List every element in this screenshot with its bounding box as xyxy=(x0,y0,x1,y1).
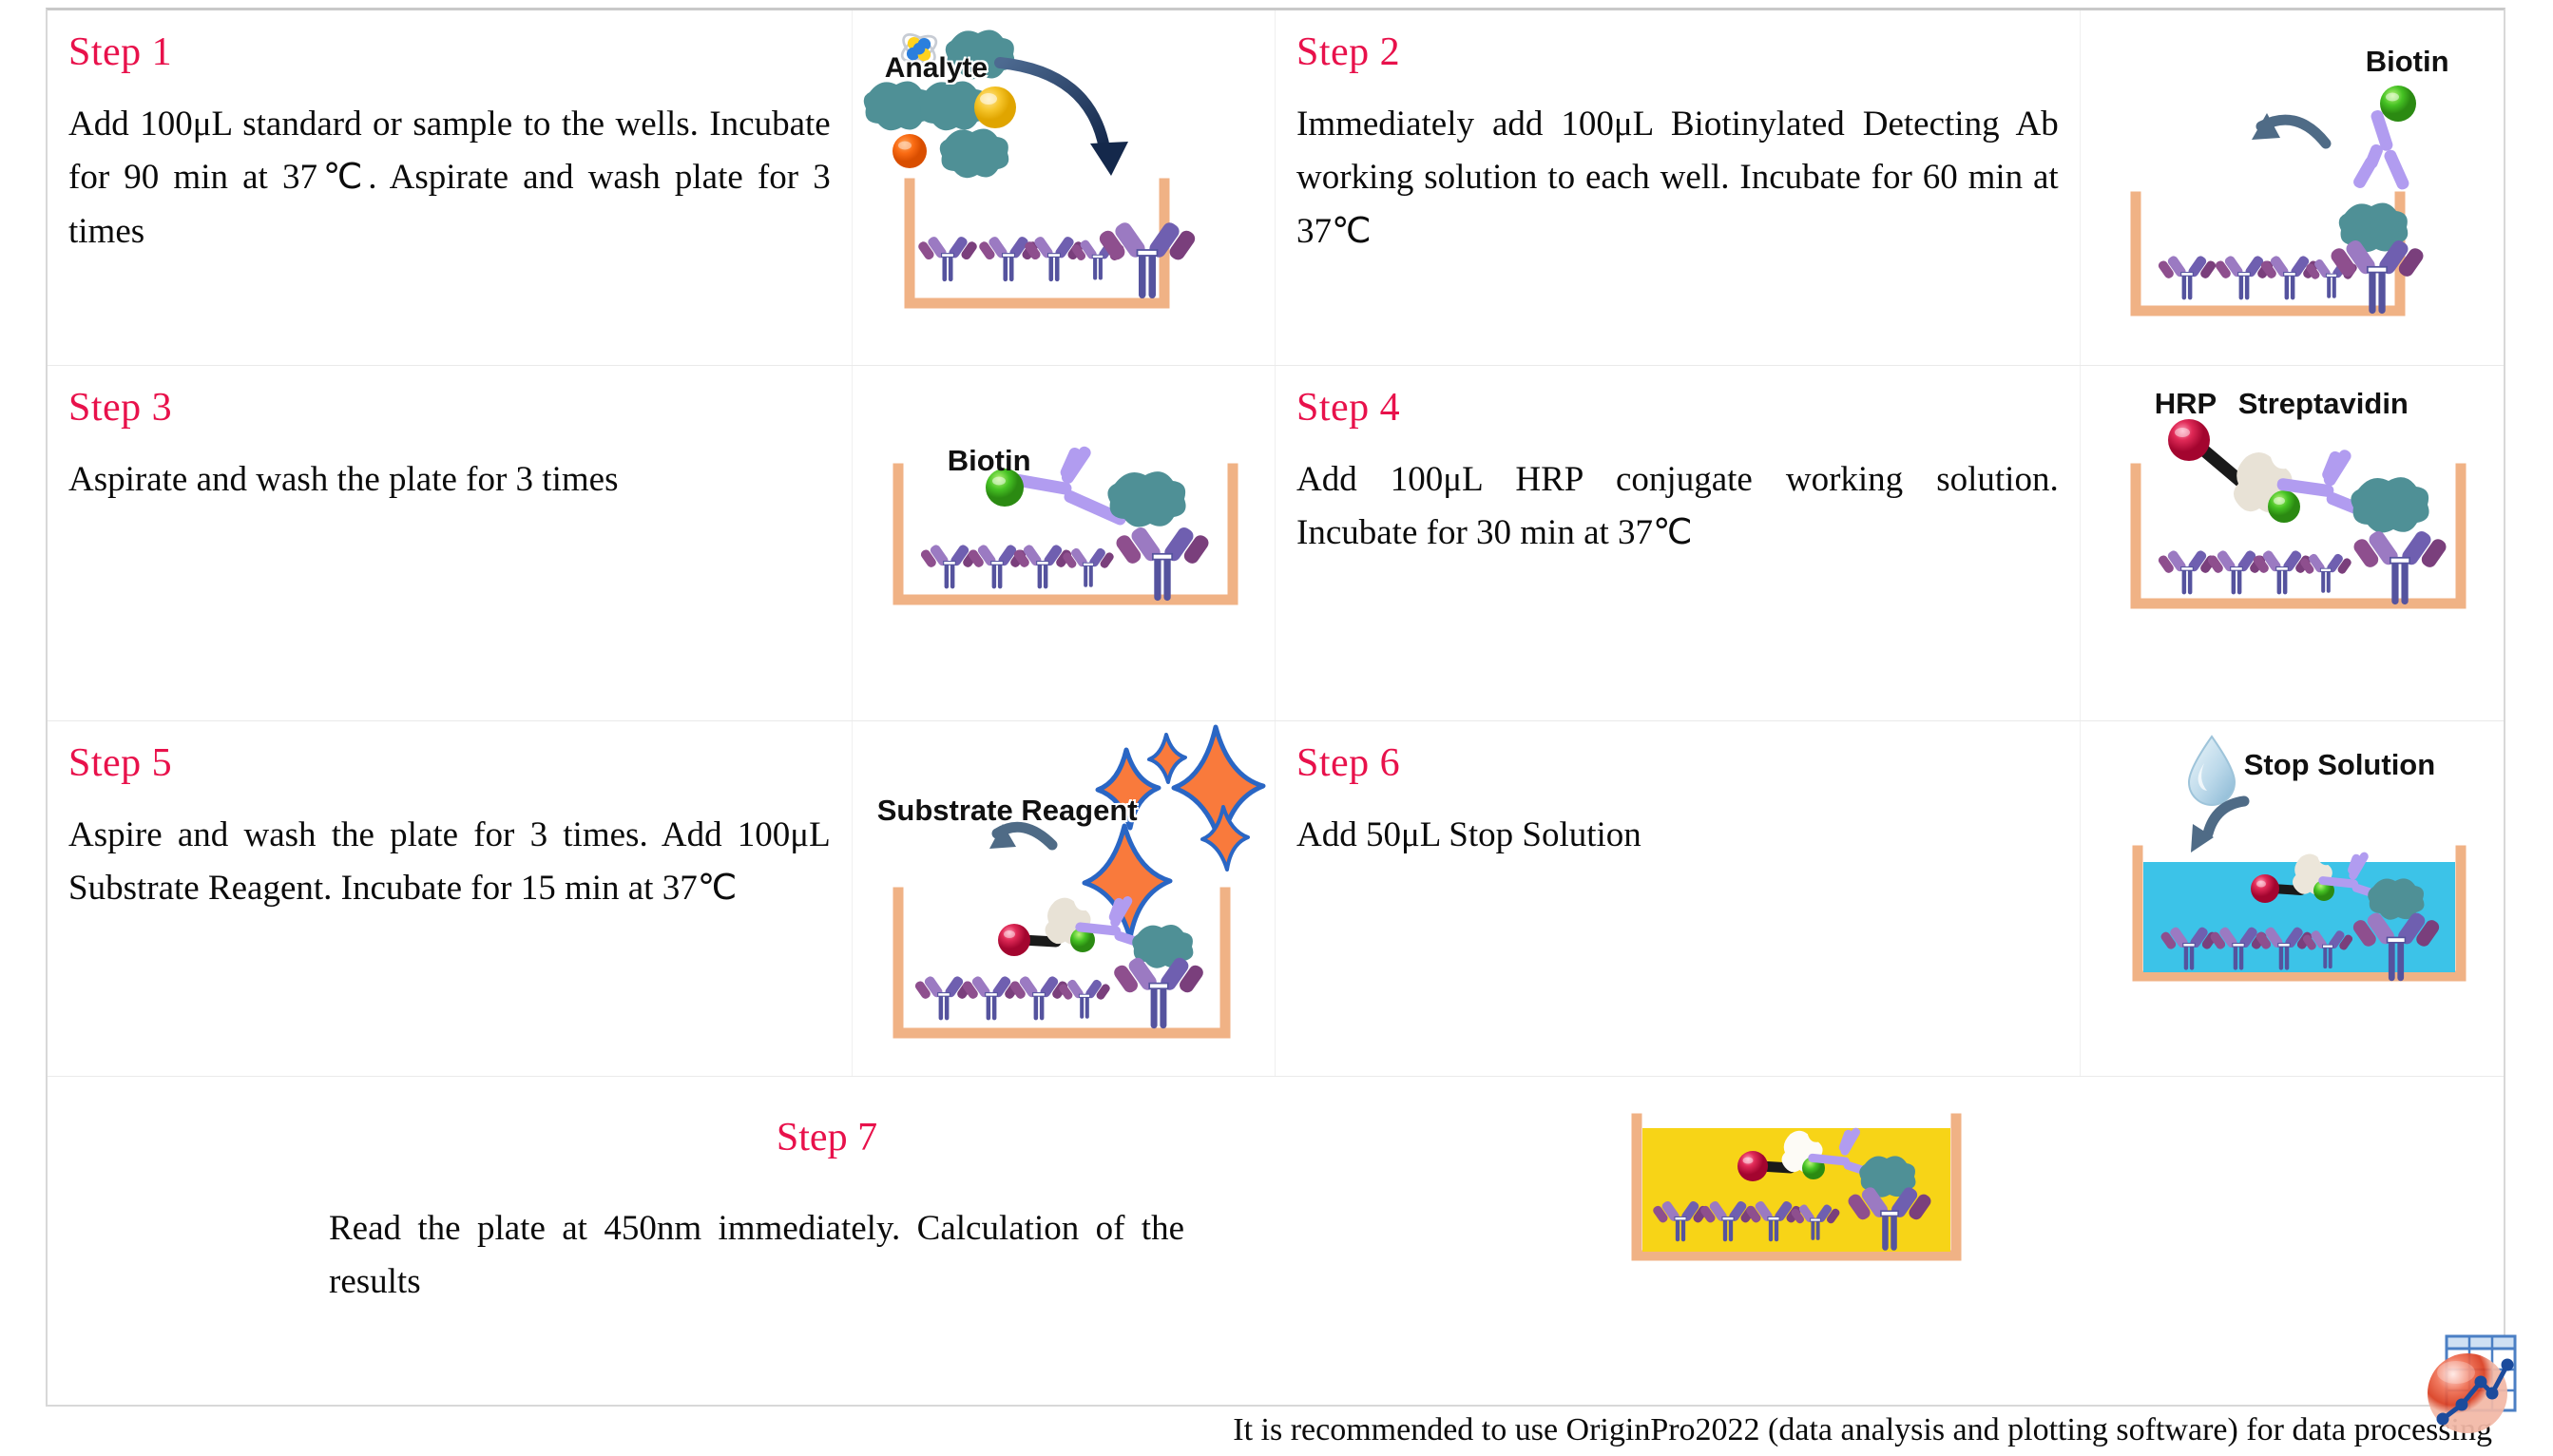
protocol-row-3: Step 5 Aspire and wash the plate for 3 t… xyxy=(48,721,2504,1077)
step-3-title: Step 3 xyxy=(68,387,831,429)
biotinylated-detecting-ab-well-illustration: Biotin xyxy=(2081,10,2504,365)
protocol-table: Step 1 Add 100μL standard or sample to t… xyxy=(46,8,2505,1407)
hrp-streptavidin-conjugate-well-illustration: HRP Streptavidin xyxy=(2081,366,2504,720)
step-6-body: Add 50μL Stop Solution xyxy=(1296,809,2059,862)
step-1-body: Add 100μL standard or sample to the well… xyxy=(68,98,831,259)
capture-antibody xyxy=(919,525,1211,601)
biotin-sphere xyxy=(2380,86,2416,122)
step-2-text-cell: Step 2 Immediately add 100μL Biotinylate… xyxy=(1276,10,2081,365)
analyte-blob xyxy=(939,128,1008,178)
detecting-antibody xyxy=(2332,107,2410,204)
read-plate-450nm-well-illustration xyxy=(1616,1092,1977,1282)
hrp-label: HRP xyxy=(2155,387,2217,421)
step-7-body: Read the plate at 450nm immediately. Cal… xyxy=(329,1202,1184,1309)
curved-arrow-icon xyxy=(2191,801,2244,853)
step-2-body: Immediately add 100μL Biotinylated Detec… xyxy=(1296,98,2059,259)
step-1-illustration-cell: Analyte xyxy=(853,10,1276,365)
step-6-title: Step 6 xyxy=(1296,742,2059,784)
step-2-illustration-cell: Biotin xyxy=(2081,10,2504,365)
biotin-label: Biotin xyxy=(948,444,1031,478)
hrp-sphere xyxy=(2168,419,2210,461)
protocol-row-2: Step 3 Aspirate and wash the plate for 3… xyxy=(48,366,2504,721)
step-3-illustration-cell: Biotin xyxy=(853,366,1276,720)
orange-sphere xyxy=(893,134,927,168)
step-5-title: Step 5 xyxy=(68,742,831,784)
yellow-sphere xyxy=(974,86,1016,128)
analyte-label: Analyte xyxy=(885,52,988,85)
substrate-reagent-well-illustration: Substrate Reagent xyxy=(853,721,1275,1076)
step-4-body: Add 100μL HRP conjugate working solution… xyxy=(1296,453,2059,560)
step-1-text-cell: Step 1 Add 100μL standard or sample to t… xyxy=(48,10,853,365)
step-5-text-cell: Step 5 Aspire and wash the plate for 3 t… xyxy=(48,721,853,1076)
step-7-illustration-cell xyxy=(1606,1077,2504,1400)
streptavidin-label: Streptavidin xyxy=(2238,387,2409,421)
water-drop-icon xyxy=(2189,737,2235,805)
hrp-conjugate xyxy=(2168,419,2248,488)
step-4-text-cell: Step 4 Add 100μL HRP conjugate working s… xyxy=(1276,366,2081,720)
bound-biotin-complex-well-illustration: Biotin xyxy=(853,366,1275,720)
hrp-sphere xyxy=(2251,874,2279,903)
biotin-label: Biotin xyxy=(2366,45,2449,79)
biotin-sphere xyxy=(2268,490,2300,523)
footer-note: It is recommended to use OriginPro2022 (… xyxy=(1233,1412,2492,1448)
step-6-text-cell: Step 6 Add 50μL Stop Solution xyxy=(1276,721,2081,1076)
analyte-addition-well-illustration: Analyte xyxy=(853,10,1275,365)
step-7-text-cell: Step 7 Read the plate at 450nm immediate… xyxy=(48,1077,1606,1400)
step-5-illustration-cell: Substrate Reagent xyxy=(853,721,1276,1076)
protocol-row-1: Step 1 Add 100μL standard or sample to t… xyxy=(48,10,2504,366)
step-3-body: Aspirate and wash the plate for 3 times xyxy=(68,453,831,507)
capture-antibody xyxy=(916,220,1198,298)
step-4-illustration-cell: HRP Streptavidin xyxy=(2081,366,2504,720)
originpro-logo xyxy=(2418,1334,2521,1446)
capture-antibody xyxy=(2157,528,2448,604)
step-4-title: Step 4 xyxy=(1296,387,2059,429)
footer-bar: It is recommended to use OriginPro2022 (… xyxy=(46,1407,2505,1454)
protocol-row-4: Step 7 Read the plate at 450nm immediate… xyxy=(48,1077,2504,1400)
step-2-title: Step 2 xyxy=(1296,31,2059,73)
curved-arrow-icon xyxy=(2252,113,2326,144)
stop-solution-well-illustration: Stop Solution xyxy=(2081,721,2504,1076)
stop-solution-label: Stop Solution xyxy=(2244,748,2435,782)
substrate-reagent-label: Substrate Reagent xyxy=(877,794,1138,828)
hrp-sphere xyxy=(998,924,1030,956)
curved-arrow-icon xyxy=(1000,63,1128,176)
step-5-body: Aspire and wash the plate for 3 times. A… xyxy=(68,809,831,915)
step-7-title: Step 7 xyxy=(48,1115,1606,1160)
step-1-title: Step 1 xyxy=(68,31,831,73)
step-6-illustration-cell: Stop Solution xyxy=(2081,721,2504,1076)
sparkle-icon xyxy=(1085,727,1263,938)
step-3-text-cell: Step 3 Aspirate and wash the plate for 3… xyxy=(48,366,853,720)
analyte-blob xyxy=(2351,477,2428,532)
hrp-sphere xyxy=(1737,1151,1768,1181)
